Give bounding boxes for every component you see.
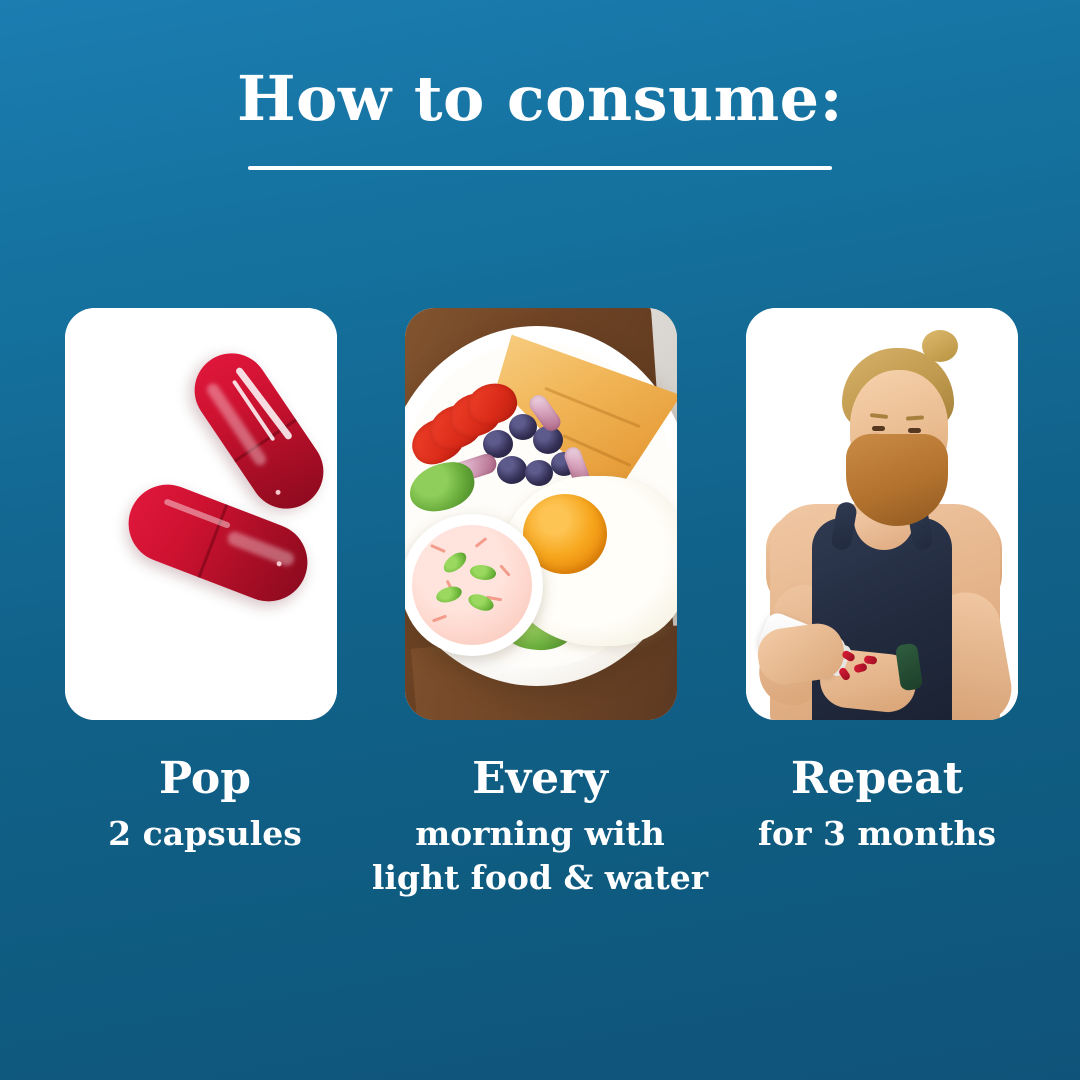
spilled-capsule — [864, 655, 878, 665]
caption-pop: Pop 2 capsules — [40, 756, 370, 856]
step-card-every — [405, 308, 677, 720]
caption-subtext-line1: morning with — [370, 812, 710, 856]
caption-heading: Every — [370, 756, 710, 802]
basil-leaf — [440, 550, 470, 576]
eye-right — [908, 428, 921, 433]
dip-shred — [432, 615, 447, 623]
capsule-highlight — [226, 530, 296, 568]
dip-shred — [430, 544, 446, 553]
basil-leaf — [466, 590, 496, 615]
breakfast-plate-icon — [405, 308, 677, 720]
basil-leaf — [435, 585, 463, 603]
capsule-icon — [65, 308, 337, 720]
hair-bun — [922, 330, 958, 362]
steps-image-row — [0, 308, 1080, 720]
caption-heading: Pop — [40, 756, 370, 802]
caption-subtext-line2: light food & water — [370, 856, 710, 900]
caption-heading: Repeat — [712, 756, 1042, 802]
dip-bowl — [405, 514, 543, 656]
page-title-block: How to consume: — [0, 66, 1080, 131]
caption-subtext: 2 capsules — [40, 812, 370, 856]
steps-caption-row: Pop 2 capsules Every morning with light … — [0, 756, 1080, 976]
caption-repeat: Repeat for 3 months — [712, 756, 1042, 856]
eyebrow-right — [906, 415, 924, 420]
page-title: How to consume: — [0, 66, 1080, 131]
step-card-repeat — [746, 308, 1018, 720]
poster-root: How to consume: — [0, 0, 1080, 1080]
dip-shred — [499, 564, 511, 576]
basil-leaf — [468, 562, 497, 584]
dip-shred — [475, 537, 488, 548]
blueberry — [497, 456, 527, 484]
blueberry — [525, 460, 553, 486]
caption-subtext: for 3 months — [712, 812, 1042, 856]
title-underline-rule — [248, 166, 832, 170]
eye-left — [872, 426, 885, 431]
capsule-speck — [275, 489, 282, 496]
capsule-speck — [276, 561, 282, 567]
dip-sauce — [412, 525, 532, 645]
step-card-pop — [65, 308, 337, 720]
caption-every: Every morning with light food & water — [370, 756, 710, 899]
person-taking-supplement-icon — [746, 308, 1018, 720]
eyebrow-left — [870, 413, 888, 419]
